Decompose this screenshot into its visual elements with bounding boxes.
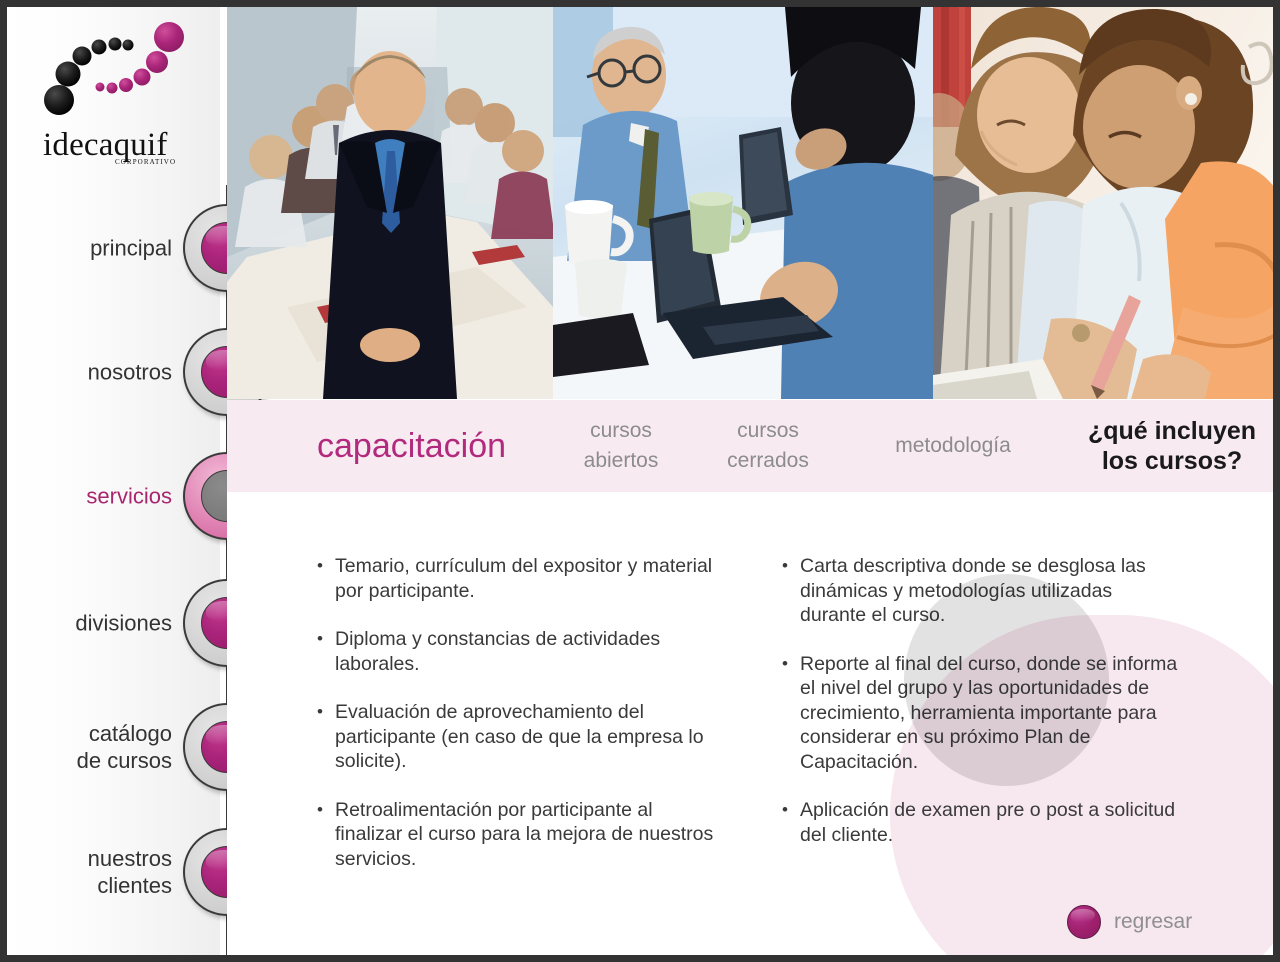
banner-photo-2 [553,7,933,399]
sidebar-item-label: principal [90,235,172,262]
logo-subtitle: CORPORATIVO [115,158,176,166]
bullet-glyph: • [313,700,335,774]
back-button-label: regresar [1114,910,1192,934]
tab-cursos-abiertos[interactable]: cursos abiertos [561,416,681,476]
list-item: • Temario, currículum del expositor y ma… [313,554,725,603]
section-tab-bar: capacitación cursos abiertos cursos cerr… [227,400,1280,492]
tab-cursos-cerrados[interactable]: cursos cerrados [708,416,828,476]
bullet-glyph: • [313,554,335,603]
banner-photo-1 [227,7,553,399]
sidebar-item-label: nuestros clientes [88,845,172,899]
instructor-classroom-photo [227,7,553,399]
bullet-column-right: • Carta descriptiva donde se desglosa la… [778,554,1178,871]
list-item-text: Reporte al final del curso, donde se inf… [800,652,1178,775]
bullet-column-left: • Temario, currículum del expositor y ma… [313,554,725,895]
sidebar-item-label: servicios [86,483,172,510]
sidebar-item-label: divisiones [75,610,172,637]
back-button[interactable]: regresar [1067,905,1192,939]
businessmen-meeting-photo [553,7,933,399]
banner-photo-3 [933,7,1280,399]
list-item-text: Retroalimentación por participante al fi… [335,798,725,872]
sidebar-item-label: nosotros [88,359,172,386]
sidebar: idecaquif CORPORATIVO principal nosotros… [7,7,220,955]
tab-metodologia[interactable]: metodología [863,431,1043,461]
list-item-text: Aplicación de examen pre o post a solici… [800,798,1178,847]
bullet-glyph: • [313,627,335,676]
bullet-glyph: • [778,652,800,775]
list-item: • Diploma y constancias de actividades l… [313,627,725,676]
list-item-text: Evaluación de aprovechamiento del partic… [335,700,725,774]
list-item-text: Diploma y constancias de actividades lab… [335,627,725,676]
brand-logo[interactable]: idecaquif CORPORATIVO [37,15,207,170]
bullet-glyph: • [778,554,800,628]
tab-que-incluyen-los-cursos[interactable]: ¿qué incluyen los cursos? [1067,416,1277,476]
logo-dots-icon [37,15,207,125]
bullet-columns: • Temario, currículum del expositor y ma… [227,492,1280,955]
list-item: • Carta descriptiva donde se desglosa la… [778,554,1178,628]
bullet-glyph: • [778,798,800,847]
list-item-text: Temario, currículum del expositor y mate… [335,554,725,603]
two-women-studying-photo [933,7,1280,399]
list-item-text: Carta descriptiva donde se desglosa las … [800,554,1178,628]
tab-capacitacion-brand[interactable]: capacitación [317,427,506,465]
page-root: idecaquif CORPORATIVO principal nosotros… [0,0,1280,962]
list-item: • Evaluación de aprovechamiento del part… [313,700,725,774]
bullet-glyph: • [313,798,335,872]
main-content: • Temario, currículum del expositor y ma… [227,492,1280,955]
list-item: • Reporte al final del curso, donde se i… [778,652,1178,775]
sidebar-item-label: catálogo de cursos [77,720,172,774]
list-item: • Retroalimentación por participante al … [313,798,725,872]
list-item: • Aplicación de examen pre o post a soli… [778,798,1178,847]
back-dot-icon [1067,905,1101,939]
banner-photo-strip [227,7,1280,399]
